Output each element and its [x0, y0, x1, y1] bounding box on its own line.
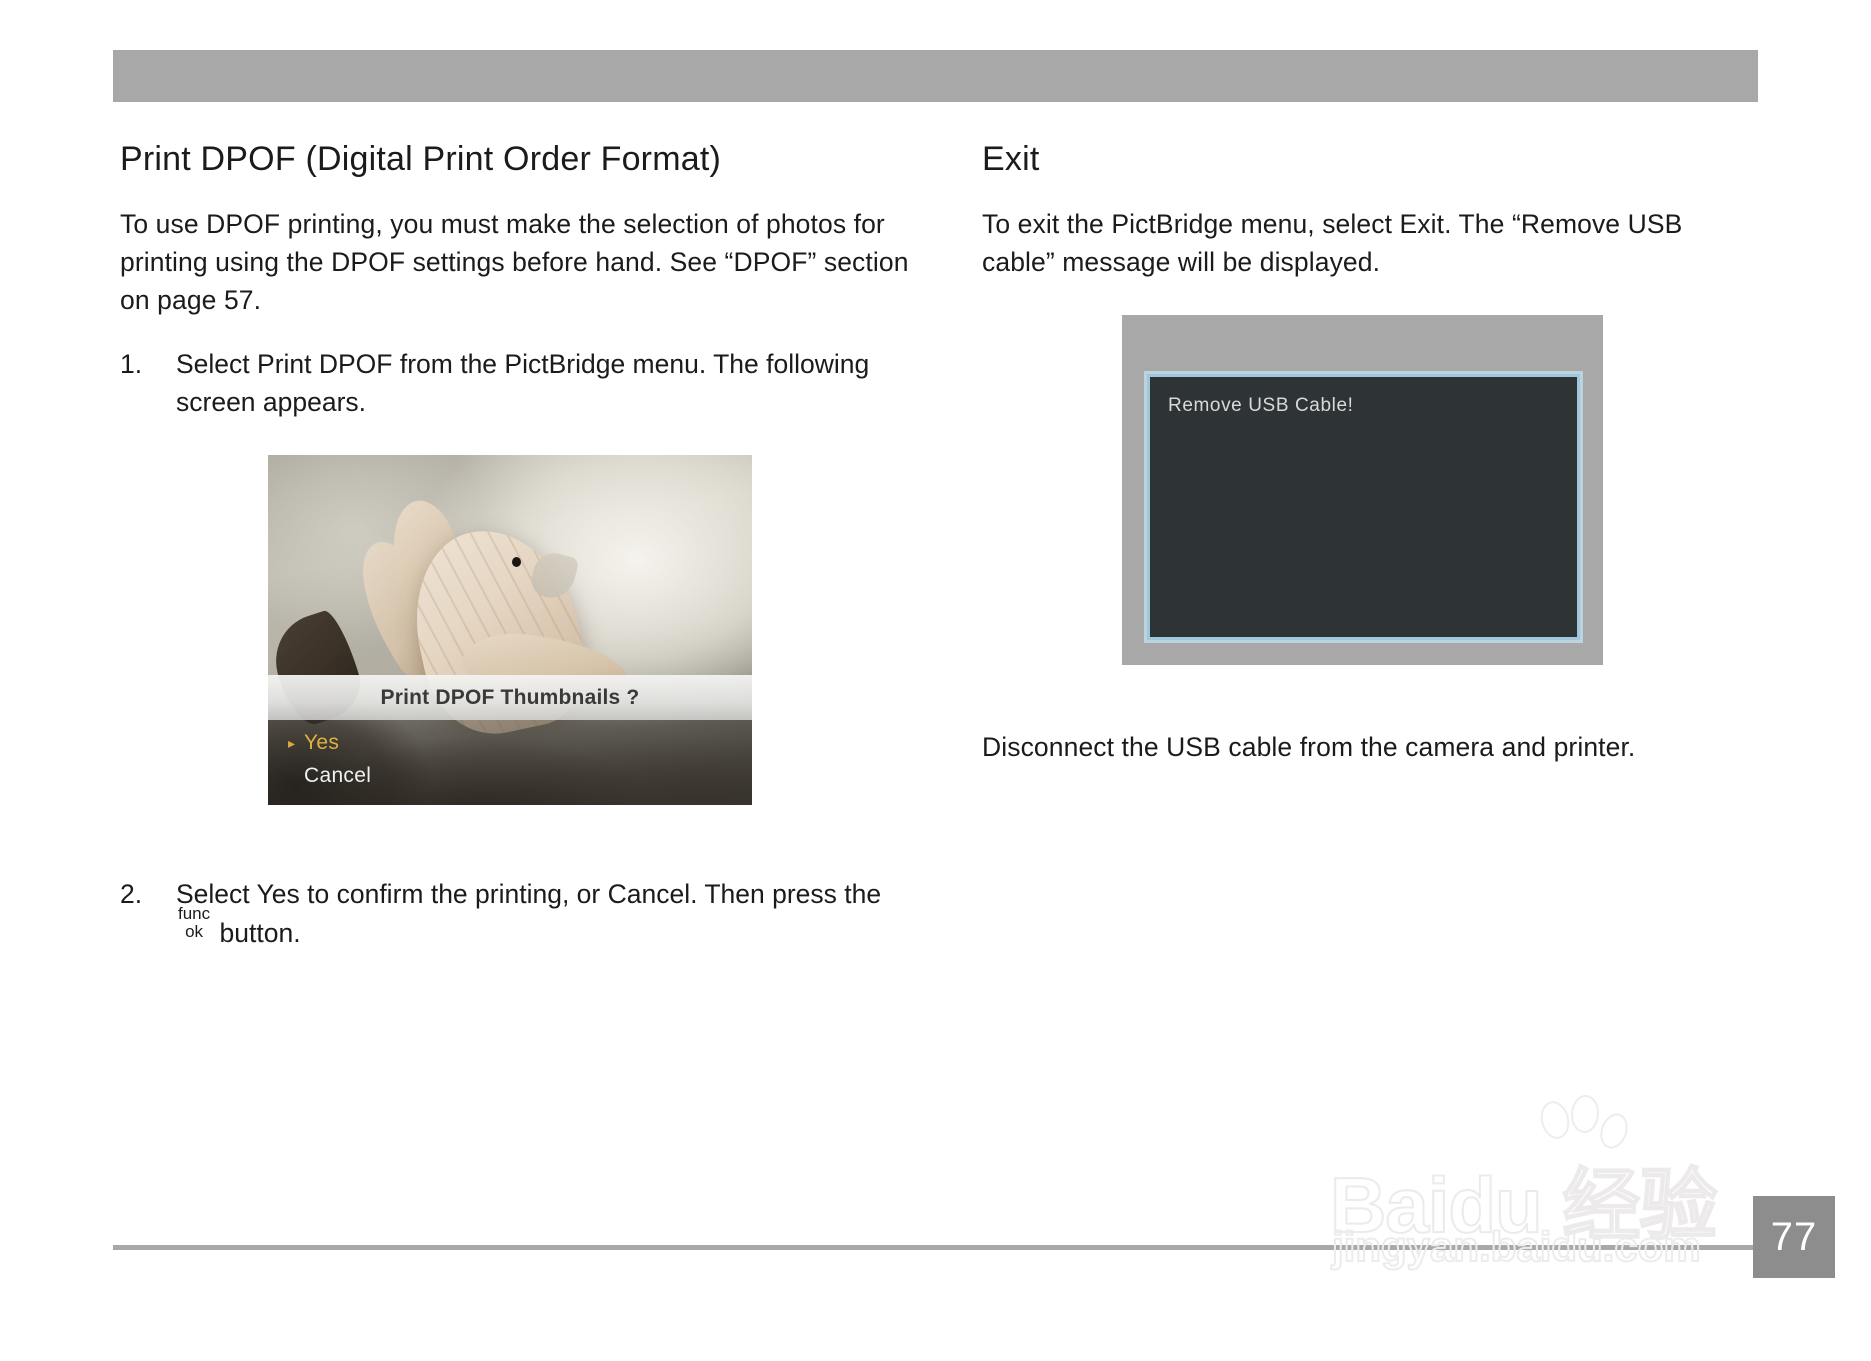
step-text-before: Select Yes to confirm the printing, or C… — [176, 879, 881, 909]
func-ok-button-symbol: func ok — [178, 912, 210, 944]
dpof-prompt-bar: Print DPOF Thumbnails ? — [268, 675, 752, 721]
steps-list-2: 2. Select Yes to confirm the printing, o… — [120, 875, 910, 952]
usb-screen-panel: Remove USB Cable! — [1147, 374, 1580, 640]
list-item: 1. Select Print DPOF from the PictBridge… — [120, 345, 910, 421]
step-number: 1. — [120, 345, 160, 383]
step-text: Select Print DPOF from the PictBridge me… — [176, 349, 869, 417]
usb-screen-outer-border: Remove USB Cable! — [1144, 371, 1583, 643]
dpof-prompt-text: Print DPOF Thumbnails ? — [381, 686, 640, 710]
exit-section-title: Exit — [982, 140, 1742, 179]
dpof-menu: ▸ Yes Cancel — [268, 720, 752, 805]
dpof-camera-screenshot: Print DPOF Thumbnails ? ▸ Yes Cancel — [268, 455, 752, 805]
func-label: func — [178, 906, 210, 922]
left-column: Print DPOF (Digital Print Order Format) … — [120, 140, 910, 431]
list-item: 2. Select Yes to confirm the printing, o… — [120, 875, 910, 952]
remove-usb-message: Remove USB Cable! — [1168, 395, 1577, 417]
dpof-menu-item-label: Yes — [304, 731, 339, 755]
right-outro-wrapper: Disconnect the USB cable from the camera… — [982, 728, 1742, 792]
page-footer-rule — [113, 1245, 1758, 1250]
dpof-menu-item-yes[interactable]: ▸ Yes — [288, 726, 752, 759]
selection-caret-icon: ▸ — [288, 736, 304, 750]
step-text-after: button. — [220, 918, 301, 948]
page-header-bar — [113, 50, 1758, 102]
steps-list-continued: 2. Select Yes to confirm the printing, o… — [120, 875, 910, 962]
dpof-menu-item-label: Cancel — [304, 764, 371, 788]
page-title: Print DPOF (Digital Print Order Format) — [120, 140, 910, 179]
baidu-brand-text: Baidu 经验 — [1330, 1143, 1716, 1255]
dpof-menu-item-cancel[interactable]: Cancel — [288, 759, 752, 792]
disconnect-instruction: Disconnect the USB cable from the camera… — [982, 728, 1742, 766]
steps-list: 1. Select Print DPOF from the PictBridge… — [120, 345, 910, 421]
ok-label: ok — [178, 924, 210, 940]
right-intro-paragraph: To exit the PictBridge menu, select Exit… — [982, 205, 1742, 281]
baidu-paw-icon — [1515, 1095, 1645, 1215]
step-number: 2. — [120, 875, 160, 913]
left-intro-paragraph: To use DPOF printing, you must make the … — [120, 205, 910, 319]
remove-usb-camera-screenshot: Remove USB Cable! — [1122, 315, 1603, 665]
baidu-watermark: Baidu 经验 jingyan.baidu.com — [1330, 1095, 1790, 1270]
right-column: Exit To exit the PictBridge menu, select… — [982, 140, 1742, 307]
page-number: 77 — [1753, 1196, 1835, 1278]
